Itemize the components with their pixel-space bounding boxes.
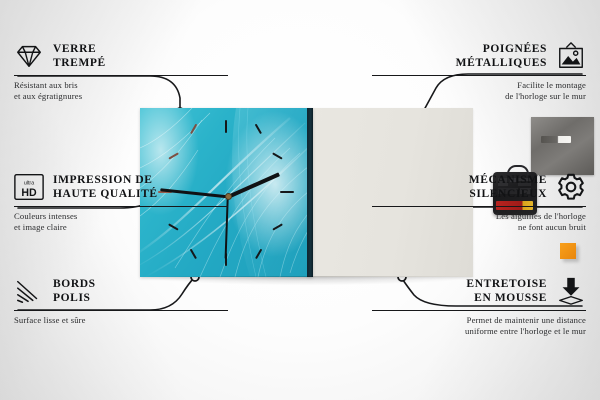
feature-title: POIGNÉES MÉTALLIQUES bbox=[456, 42, 547, 70]
foam-spacer-part bbox=[560, 243, 576, 259]
clock-tick bbox=[225, 120, 227, 133]
diamond-icon bbox=[14, 41, 44, 71]
feature-entretoise-en-mousse: ENTRETOISE EN MOUSSE Permet de maintenir… bbox=[372, 276, 586, 338]
feature-mecanisme-silencieux: MÉCANISME SILENCIEUX Les aiguilles de l'… bbox=[372, 172, 586, 234]
gear-icon bbox=[556, 172, 586, 202]
feature-divider bbox=[14, 75, 228, 76]
feature-subtitle: Surface lisse et sûre bbox=[14, 315, 228, 326]
feature-divider bbox=[372, 75, 586, 76]
picture-hanger-icon bbox=[556, 41, 586, 71]
feature-title: ENTRETOISE EN MOUSSE bbox=[466, 277, 547, 305]
feature-subtitle: Facilite le montage de l'horloge sur le … bbox=[372, 80, 586, 103]
clock-glass-edge bbox=[307, 108, 313, 277]
polished-edges-icon bbox=[14, 276, 44, 306]
feature-impression-haute-qualite: ultra HD IMPRESSION DE HAUTE QUALITÉ Cou… bbox=[14, 172, 228, 234]
feature-bords-polis: BORDS POLIS Surface lisse et sûre bbox=[14, 276, 228, 326]
feature-divider bbox=[372, 310, 586, 311]
clock-tick bbox=[280, 191, 294, 193]
foam-spacer-icon bbox=[556, 276, 586, 306]
feature-subtitle: Résistant aux bris et aux égratignures bbox=[14, 80, 228, 103]
feature-title: VERRE TREMPÉ bbox=[53, 42, 106, 70]
svg-text:HD: HD bbox=[21, 187, 37, 199]
feature-subtitle: Permet de maintenir une distance uniform… bbox=[372, 315, 586, 338]
svg-text:ultra: ultra bbox=[24, 180, 34, 186]
feature-verre-trempe: VERRE TREMPÉ Résistant aux bris et aux é… bbox=[14, 41, 228, 103]
feature-subtitle: Couleurs intenses et image claire bbox=[14, 211, 228, 234]
feature-divider bbox=[14, 206, 228, 207]
feature-divider bbox=[14, 310, 228, 311]
feature-subtitle: Les aiguilles de l'horloge ne font aucun… bbox=[372, 211, 586, 234]
infographic-canvas: VERRE TREMPÉ Résistant aux bris et aux é… bbox=[0, 0, 600, 400]
feature-title: BORDS POLIS bbox=[53, 277, 96, 305]
feature-title: IMPRESSION DE HAUTE QUALITÉ bbox=[53, 173, 158, 201]
ultra-hd-icon: ultra HD bbox=[14, 172, 44, 202]
feature-divider bbox=[372, 206, 586, 207]
hanger-slot bbox=[541, 136, 571, 143]
metal-hanger-plate bbox=[531, 117, 594, 175]
feature-poignees-metalliques: POIGNÉES MÉTALLIQUES Facilite le montage… bbox=[372, 41, 586, 103]
feature-title: MÉCANISME SILENCIEUX bbox=[469, 173, 547, 201]
